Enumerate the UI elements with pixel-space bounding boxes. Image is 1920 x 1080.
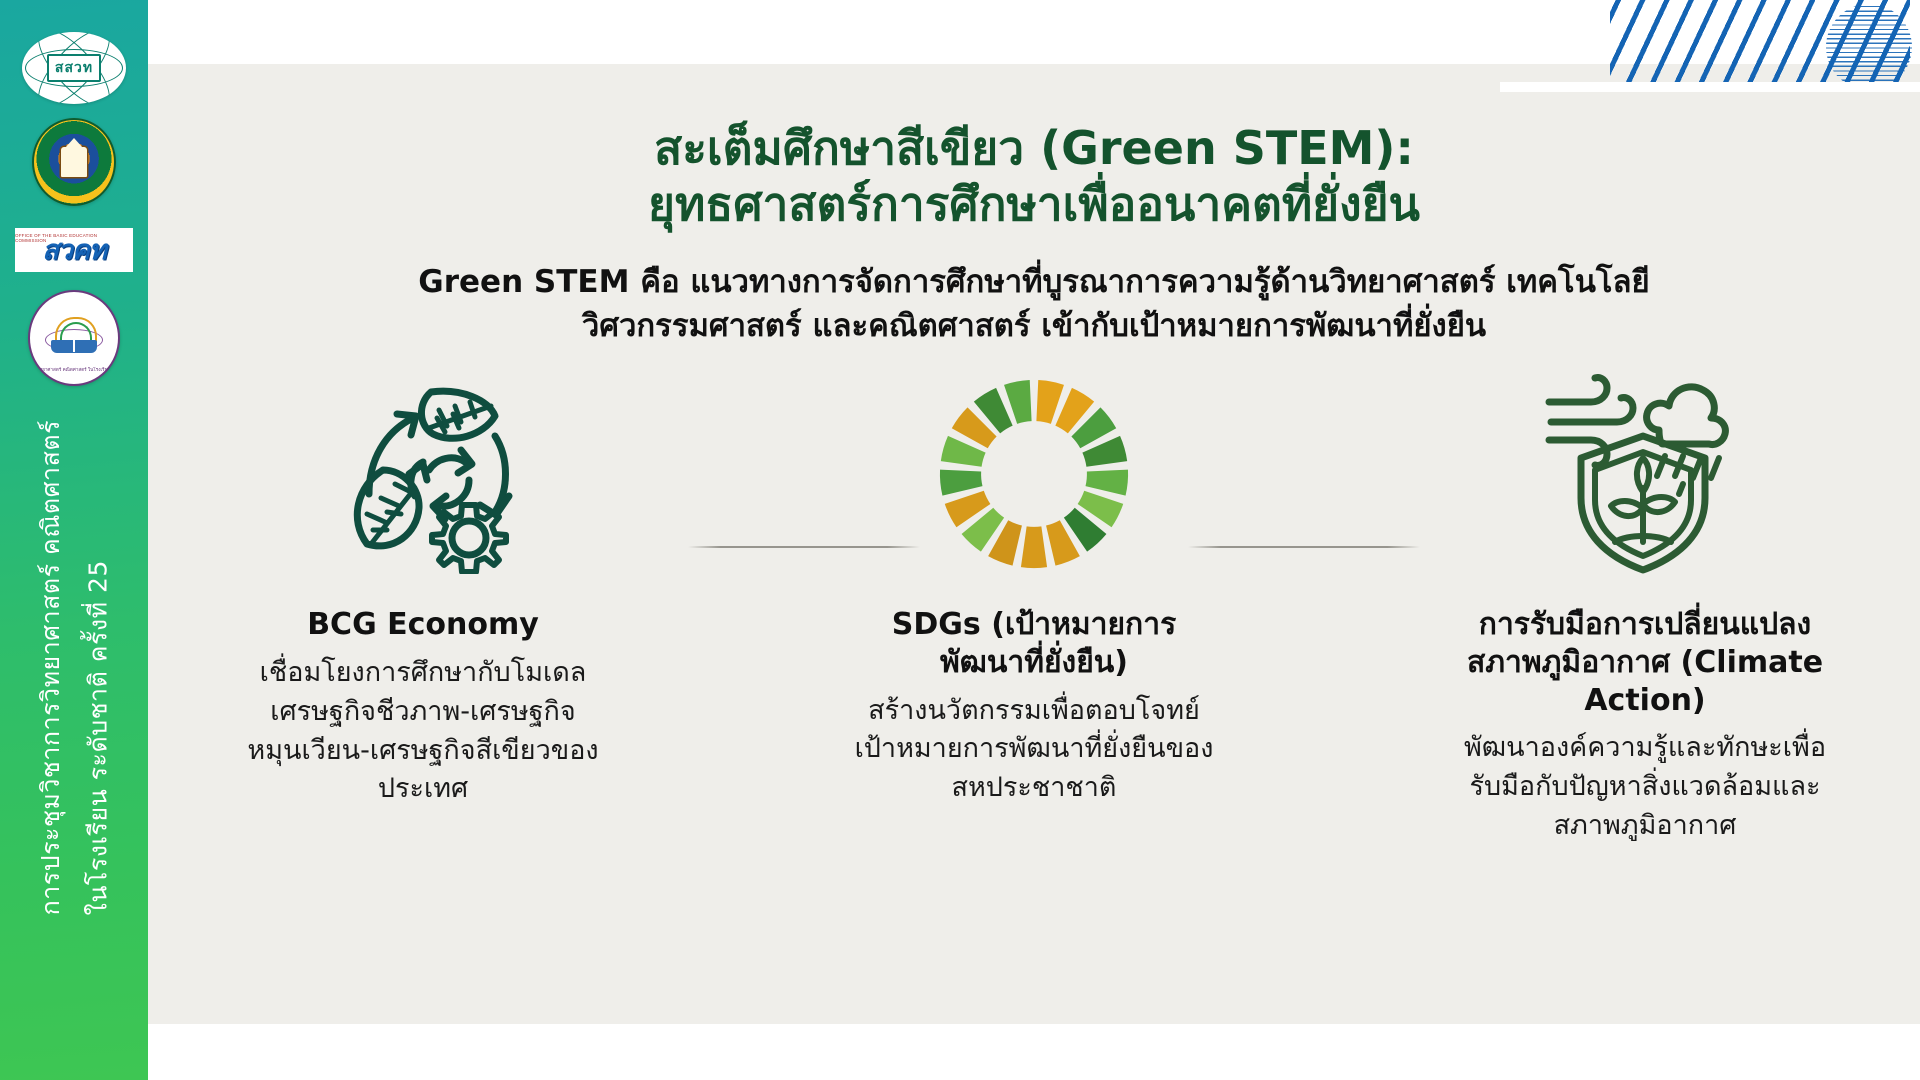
stripe-mask (1500, 82, 1920, 92)
logo-ipst: สสวท (22, 30, 126, 106)
logo-ipst-circle: สสวท (22, 32, 126, 104)
pillar-title: การรับมือการเปลี่ยนแปลง สภาพภูมิอากาศ (C… (1467, 606, 1823, 719)
logo-sdg-obec-subtext: OFFICE OF THE BASIC EDUCATION COMMISSION (15, 233, 127, 243)
logo-sdg-obec: OFFICE OF THE BASIC EDUCATION COMMISSION… (15, 228, 133, 272)
pillar-bcg-economy: BCG Economy เชื่อมโยงการศึกษากับโมเดล เศ… (188, 364, 658, 809)
seal-inner-art (51, 315, 97, 353)
sdg-wheel-segment (1086, 470, 1129, 496)
climate-icon-box (1410, 364, 1880, 584)
logo-university (32, 120, 116, 204)
logo-sdg-obec-box: OFFICE OF THE BASIC EDUCATION COMMISSION… (15, 228, 133, 272)
left-sidebar-rail: สสวท OFFICE OF THE BASIC EDUCATION COMMI… (0, 0, 148, 1080)
recycle-leaf-gear-icon (323, 374, 523, 574)
slide-subtitle: Green STEM คือ แนวทางการจัดการศึกษาที่บู… (254, 260, 1814, 348)
pillar-title: BCG Economy (307, 606, 539, 644)
conference-vertical-title: การประชุมวิชาการวิทยาศาสตร์ คณิตศาสตร์ ใ… (0, 420, 148, 1060)
slide-content-panel: สะเต็มศึกษาสีเขียว (Green STEM): ยุทธศาส… (148, 64, 1920, 1024)
sdg-icon-box (799, 364, 1269, 584)
pillar-title: SDGs (เป้าหมายการ พัฒนาที่ยั่งยืน) (892, 606, 1176, 682)
climate-shield-icon (1539, 374, 1751, 574)
logo-ipst-label: สสวท (47, 54, 101, 82)
university-emblem-icon (61, 147, 87, 177)
pillar-sdgs: SDGs (เป้าหมายการ พัฒนาที่ยั่งยืน) สร้าง… (799, 364, 1269, 808)
logo-university-seal (32, 118, 116, 206)
logo-school-caption: ศูนย์บริหารวิชาการวิทยาศาสตร์ คณิตศาสตร์… (28, 367, 120, 374)
bcg-icon-box (188, 364, 658, 584)
connector-line-left (688, 546, 920, 548)
pillar-description: เชื่อมโยงการศึกษากับโมเดล เศรษฐกิจชีวภาพ… (247, 654, 598, 810)
pillar-climate-action: การรับมือการเปลี่ยนแปลง สภาพภูมิอากาศ (C… (1410, 364, 1880, 846)
sdg-wheel-segment (1021, 526, 1047, 568)
sdg-wheel-segment (940, 470, 983, 496)
conference-vertical-title-text: การประชุมวิชาการวิทยาศาสตร์ คณิตศาสตร์ ใ… (27, 420, 122, 915)
logo-school-seal: ศูนย์บริหารวิชาการวิทยาศาสตร์ คณิตศาสตร์… (28, 290, 120, 386)
page-title: สะเต็มศึกษาสีเขียว (Green STEM): ยุทธศาส… (148, 120, 1920, 232)
pillars-row: BCG Economy เชื่อมโยงการศึกษากับโมเดล เศ… (188, 364, 1880, 846)
halftone-circle-icon (1826, 4, 1912, 90)
pillar-description: สร้างนวัตกรรมเพื่อตอบโจทย์ เป้าหมายการพั… (855, 692, 1214, 809)
pillar-description: พัฒนาองค์ความรู้และทักษะเพื่อ รับมือกับป… (1464, 729, 1826, 846)
connector-line-right (1188, 546, 1420, 548)
book-icon (51, 340, 97, 353)
diagonal-stripes-decoration (1500, 0, 1920, 92)
logo-school-network: ศูนย์บริหารวิชาการวิทยาศาสตร์ คณิตศาสตร์… (28, 292, 120, 384)
sdg-wheel-icon (936, 376, 1132, 572)
